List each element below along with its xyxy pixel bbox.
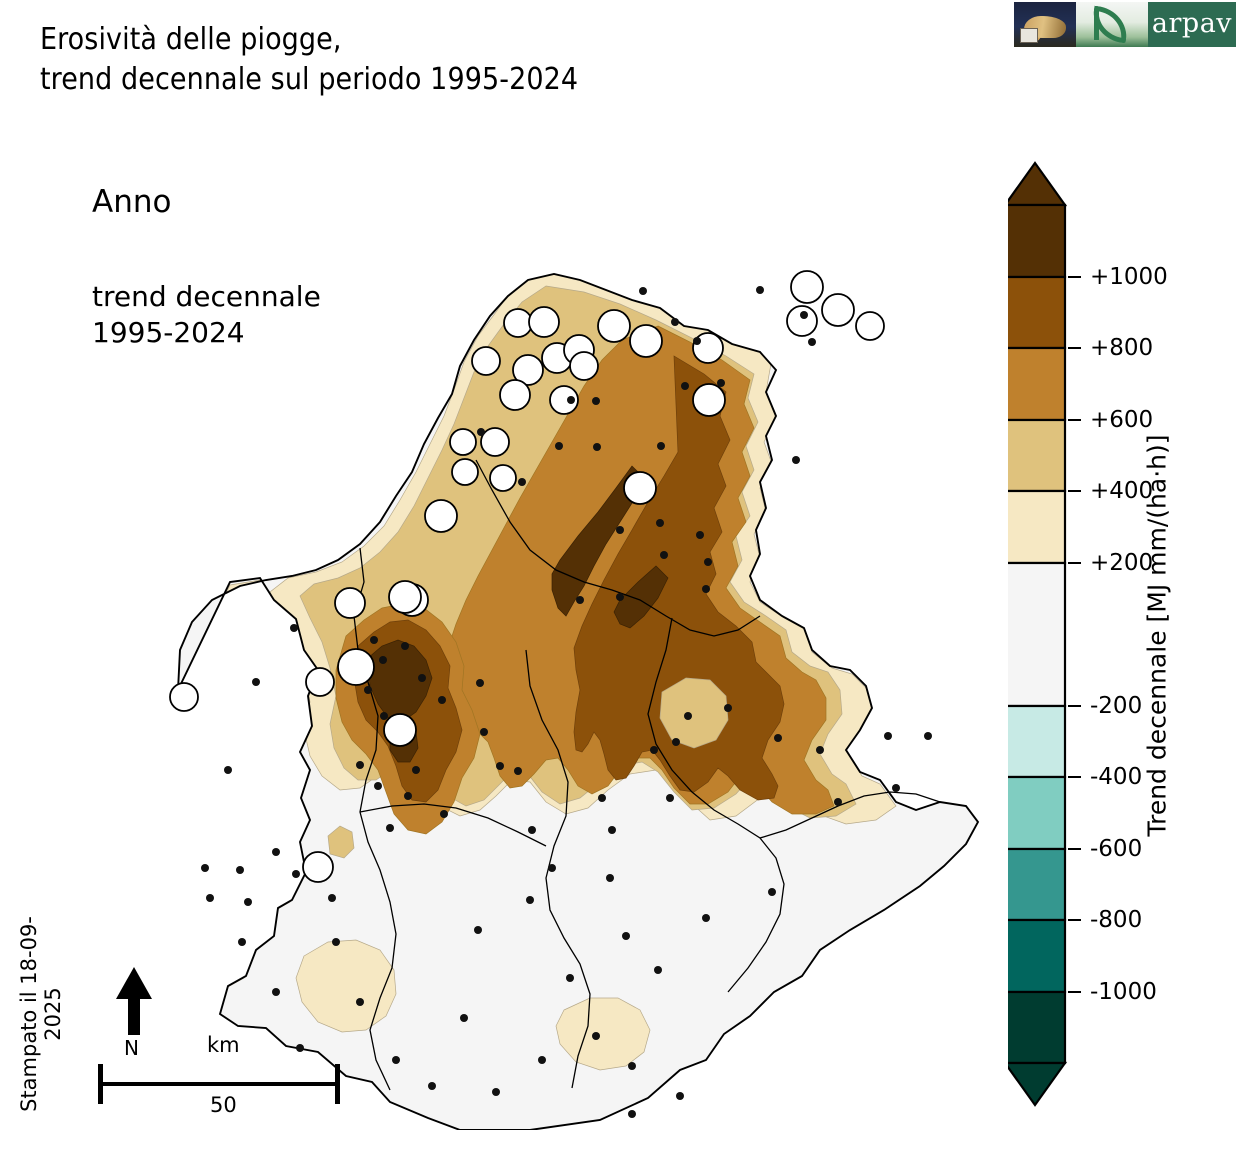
tickline-n400 [1068,776,1081,778]
colorbar-band-600-800 [1008,348,1065,420]
tickline-n1000 [1068,991,1081,993]
tickline-400 [1068,490,1081,492]
colorbar-axis-label: Trend decennale [MJ mm/(ha·h)] [1134,160,1180,1110]
tickline-1000 [1068,276,1081,278]
tickline-n600 [1068,848,1081,850]
scale-unit-label: km [207,1033,240,1057]
tickline-200 [1068,562,1081,564]
colorbar-band-800-1000 [1008,277,1065,348]
colorbar-band-lt-n1000 [1008,992,1065,1063]
colorbar-band-n400-n600 [1008,777,1065,849]
arpav-logo: arpav [1014,2,1236,47]
colorbar-swatches [1008,163,1065,1105]
veneto-trend-map [60,130,1000,1130]
colorbar-band-n200-n400 [1008,706,1065,777]
colorbar-band-neutral [1008,563,1065,706]
arpav-wordmark: arpav [1148,2,1236,47]
tickline-n200 [1068,705,1081,707]
band-neg-200-400-delta [766,1046,822,1130]
north-label: N [124,1036,139,1060]
patch-east-coast-outer [896,690,978,772]
north-arrow-icon [112,965,156,1035]
tickline-800 [1068,347,1081,349]
page-title: Erosività delle piogge, trend decennale … [40,20,578,100]
scale-length-label: 50 [210,1093,237,1117]
colorbar-band-gt-1000 [1008,205,1065,277]
colorbar-band-200-400 [1008,491,1065,563]
leaf-icon [1076,2,1148,47]
tickline-600 [1068,419,1081,421]
tickline-n800 [1068,919,1081,921]
patch-east-coast [908,706,962,760]
print-date-note: Stampato il 18-09-2025 [17,894,65,1134]
colorbar-band-n600-n800 [1008,849,1065,920]
winged-lion-icon [1014,2,1076,47]
colorbar-extend-top [1008,163,1065,205]
colorbar-band-400-600 [1008,420,1065,491]
colorbar-band-n800-n1000 [1008,920,1065,992]
colorbar-extend-bottom [1008,1063,1065,1105]
colorbar-axis-label-text: Trend decennale [MJ mm/(ha·h)] [1143,434,1172,836]
